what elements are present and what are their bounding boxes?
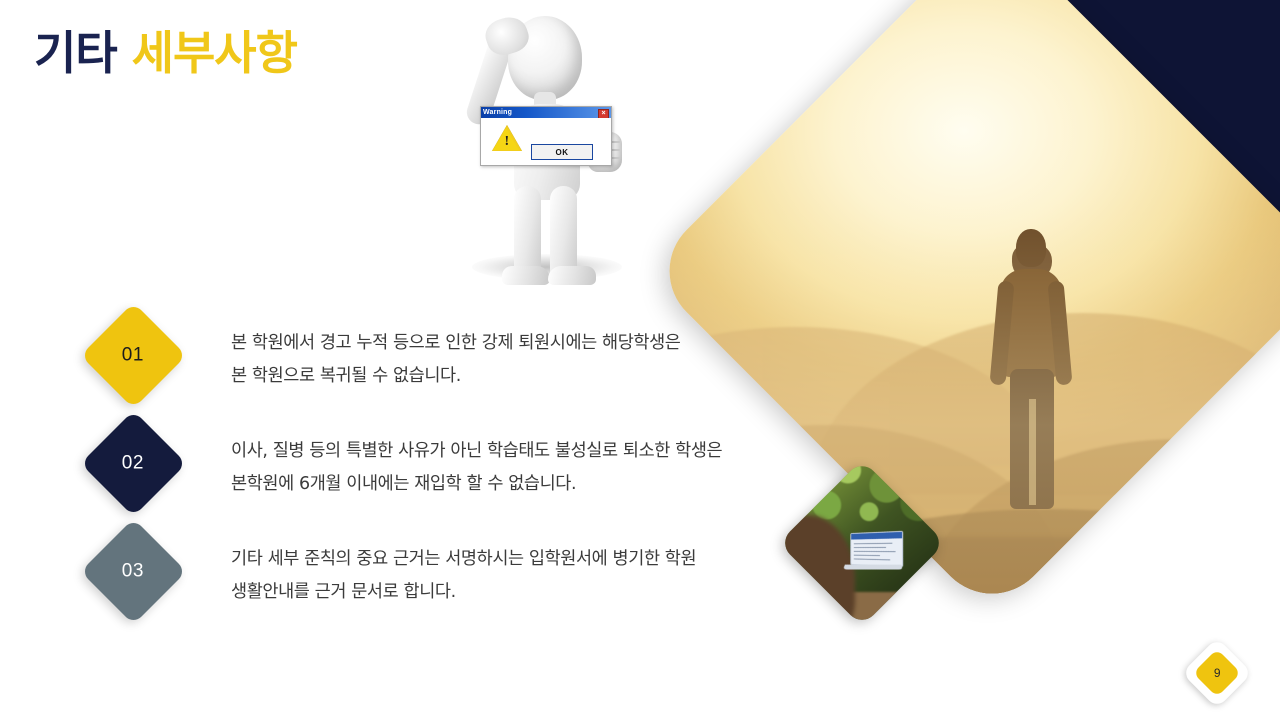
- number-badge-02: 02: [80, 410, 186, 516]
- list-item: 02 이사, 질병 등의 특별한 사유가 아닌 학습태도 불성실로 퇴소한 학생…: [0, 413, 840, 521]
- laptop-device: [844, 532, 902, 574]
- list-item-text-03-line2: 생활안내를 근거 문서로 합니다.: [231, 576, 831, 609]
- laptop-screen-textline: [854, 547, 886, 548]
- figure-foot-right: [548, 266, 596, 285]
- list-item-text-02: 이사, 질병 등의 특별한 사유가 아닌 학습태도 불성실로 퇴소한 학생은 본…: [231, 435, 831, 501]
- list-item-text-01: 본 학원에서 경고 누적 등으로 인한 강제 퇴원시에는 해당학생은 본 학원으…: [231, 327, 831, 393]
- list-item-text-03: 기타 세부 준칙의 중요 근거는 서명하시는 입학원서에 병기한 학원 생활안내…: [231, 543, 831, 609]
- ok-button[interactable]: OK: [531, 144, 593, 160]
- laptop-screen-textline: [854, 543, 892, 545]
- page-title-part1: 기타: [34, 26, 132, 80]
- laptop-screen: [851, 531, 904, 567]
- laptop-screen-textline: [854, 559, 890, 561]
- slide-canvas: 기타 세부사항: [0, 0, 1280, 720]
- laptop-keyboard-base: [843, 565, 903, 570]
- warning-dialog-title: Warning: [483, 107, 512, 118]
- page-title: 기타 세부사항: [34, 30, 297, 76]
- laptop-screen-textline: [854, 555, 880, 556]
- number-badge-01-label: 01: [122, 344, 144, 366]
- list-item-text-02-line1: 이사, 질병 등의 특별한 사유가 아닌 학습태도 불성실로 퇴소한 학생은: [231, 435, 831, 468]
- list-item-text-01-line2: 본 학원으로 복귀될 수 없습니다.: [231, 360, 831, 393]
- warning-dialog[interactable]: Warning × ! OK: [480, 106, 612, 166]
- number-badge-02-label: 02: [122, 452, 144, 474]
- list-item: 01 본 학원에서 경고 누적 등으로 인한 강제 퇴원시에는 해당학생은 본 …: [0, 305, 840, 413]
- figure-leg-left: [514, 186, 541, 278]
- laptop-screen-textline: [854, 551, 896, 552]
- number-badge-03: 03: [80, 518, 186, 624]
- warning-dialog-titlebar: Warning ×: [481, 107, 611, 118]
- bullet-list: 01 본 학원에서 경고 누적 등으로 인한 강제 퇴원시에는 해당학생은 본 …: [0, 305, 840, 629]
- warning-dialog-body: ! OK: [481, 118, 611, 165]
- warning-exclamation-glyph: !: [505, 135, 510, 149]
- ok-button-label: OK: [556, 148, 569, 157]
- list-item-text-01-line1: 본 학원에서 경고 누적 등으로 인한 강제 퇴원시에는 해당학생은: [231, 327, 831, 360]
- figure-leg-right: [550, 186, 577, 278]
- list-item-text-02-line2: 본학원에 6개월 이내에는 재입학 할 수 없습니다.: [231, 468, 831, 501]
- number-badge-03-label: 03: [122, 560, 144, 582]
- list-item-text-03-line1: 기타 세부 준칙의 중요 근거는 서명하시는 입학원서에 병기한 학원: [231, 543, 831, 576]
- laptop-screen-titlebar: [852, 532, 903, 540]
- page-number-label: 9: [1214, 666, 1221, 680]
- list-item: 03 기타 세부 준칙의 중요 근거는 서명하시는 입학원서에 병기한 학원 생…: [0, 521, 840, 629]
- page-title-part2: 세부사항: [132, 26, 297, 80]
- figure-foot-left: [502, 266, 550, 285]
- number-badge-01: 01: [80, 302, 186, 408]
- close-icon[interactable]: ×: [598, 109, 609, 119]
- page-number-badge: 9: [1192, 648, 1242, 698]
